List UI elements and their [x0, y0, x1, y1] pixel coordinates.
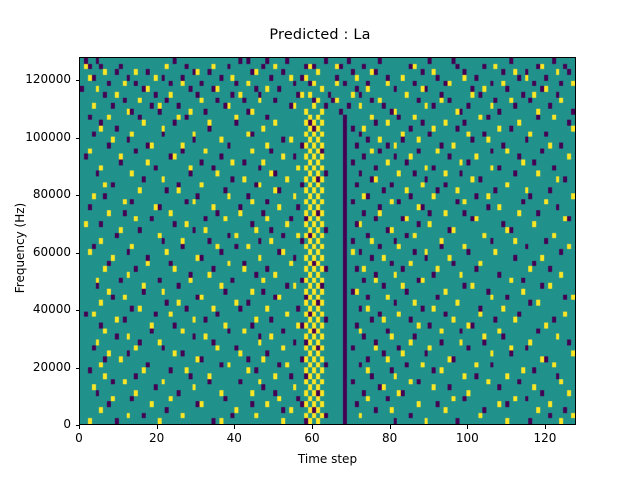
heatmap-axes[interactable] [79, 57, 576, 425]
y-tick-mark [76, 138, 80, 139]
x-tick-label: 40 [227, 431, 242, 445]
x-tick-mark [467, 425, 468, 429]
x-tick-mark [79, 425, 80, 429]
x-axis-label: Time step [79, 452, 576, 466]
y-tick-mark [76, 253, 80, 254]
x-tick-mark [157, 425, 158, 429]
x-tick-mark [390, 425, 391, 429]
x-tick-label: 80 [382, 431, 397, 445]
x-tick-label: 60 [304, 431, 319, 445]
y-tick-mark [76, 425, 80, 426]
x-tick-mark [545, 425, 546, 429]
heatmap-canvas[interactable] [80, 58, 575, 424]
x-tick-label: 100 [456, 431, 479, 445]
x-tick-mark [312, 425, 313, 429]
x-tick-mark [234, 425, 235, 429]
matplotlib-figure: Predicted : La 020406080100120 020000400… [0, 0, 640, 480]
x-tick-label: 20 [149, 431, 164, 445]
y-tick-mark [76, 195, 80, 196]
x-tick-label: 120 [533, 431, 556, 445]
chart-title: Predicted : La [0, 27, 640, 43]
y-tick-mark [76, 368, 80, 369]
x-tick-label: 0 [75, 431, 83, 445]
y-tick-mark [76, 80, 80, 81]
y-tick-mark [76, 310, 80, 311]
y-axis-label: Frequency (Hz) [13, 198, 27, 298]
